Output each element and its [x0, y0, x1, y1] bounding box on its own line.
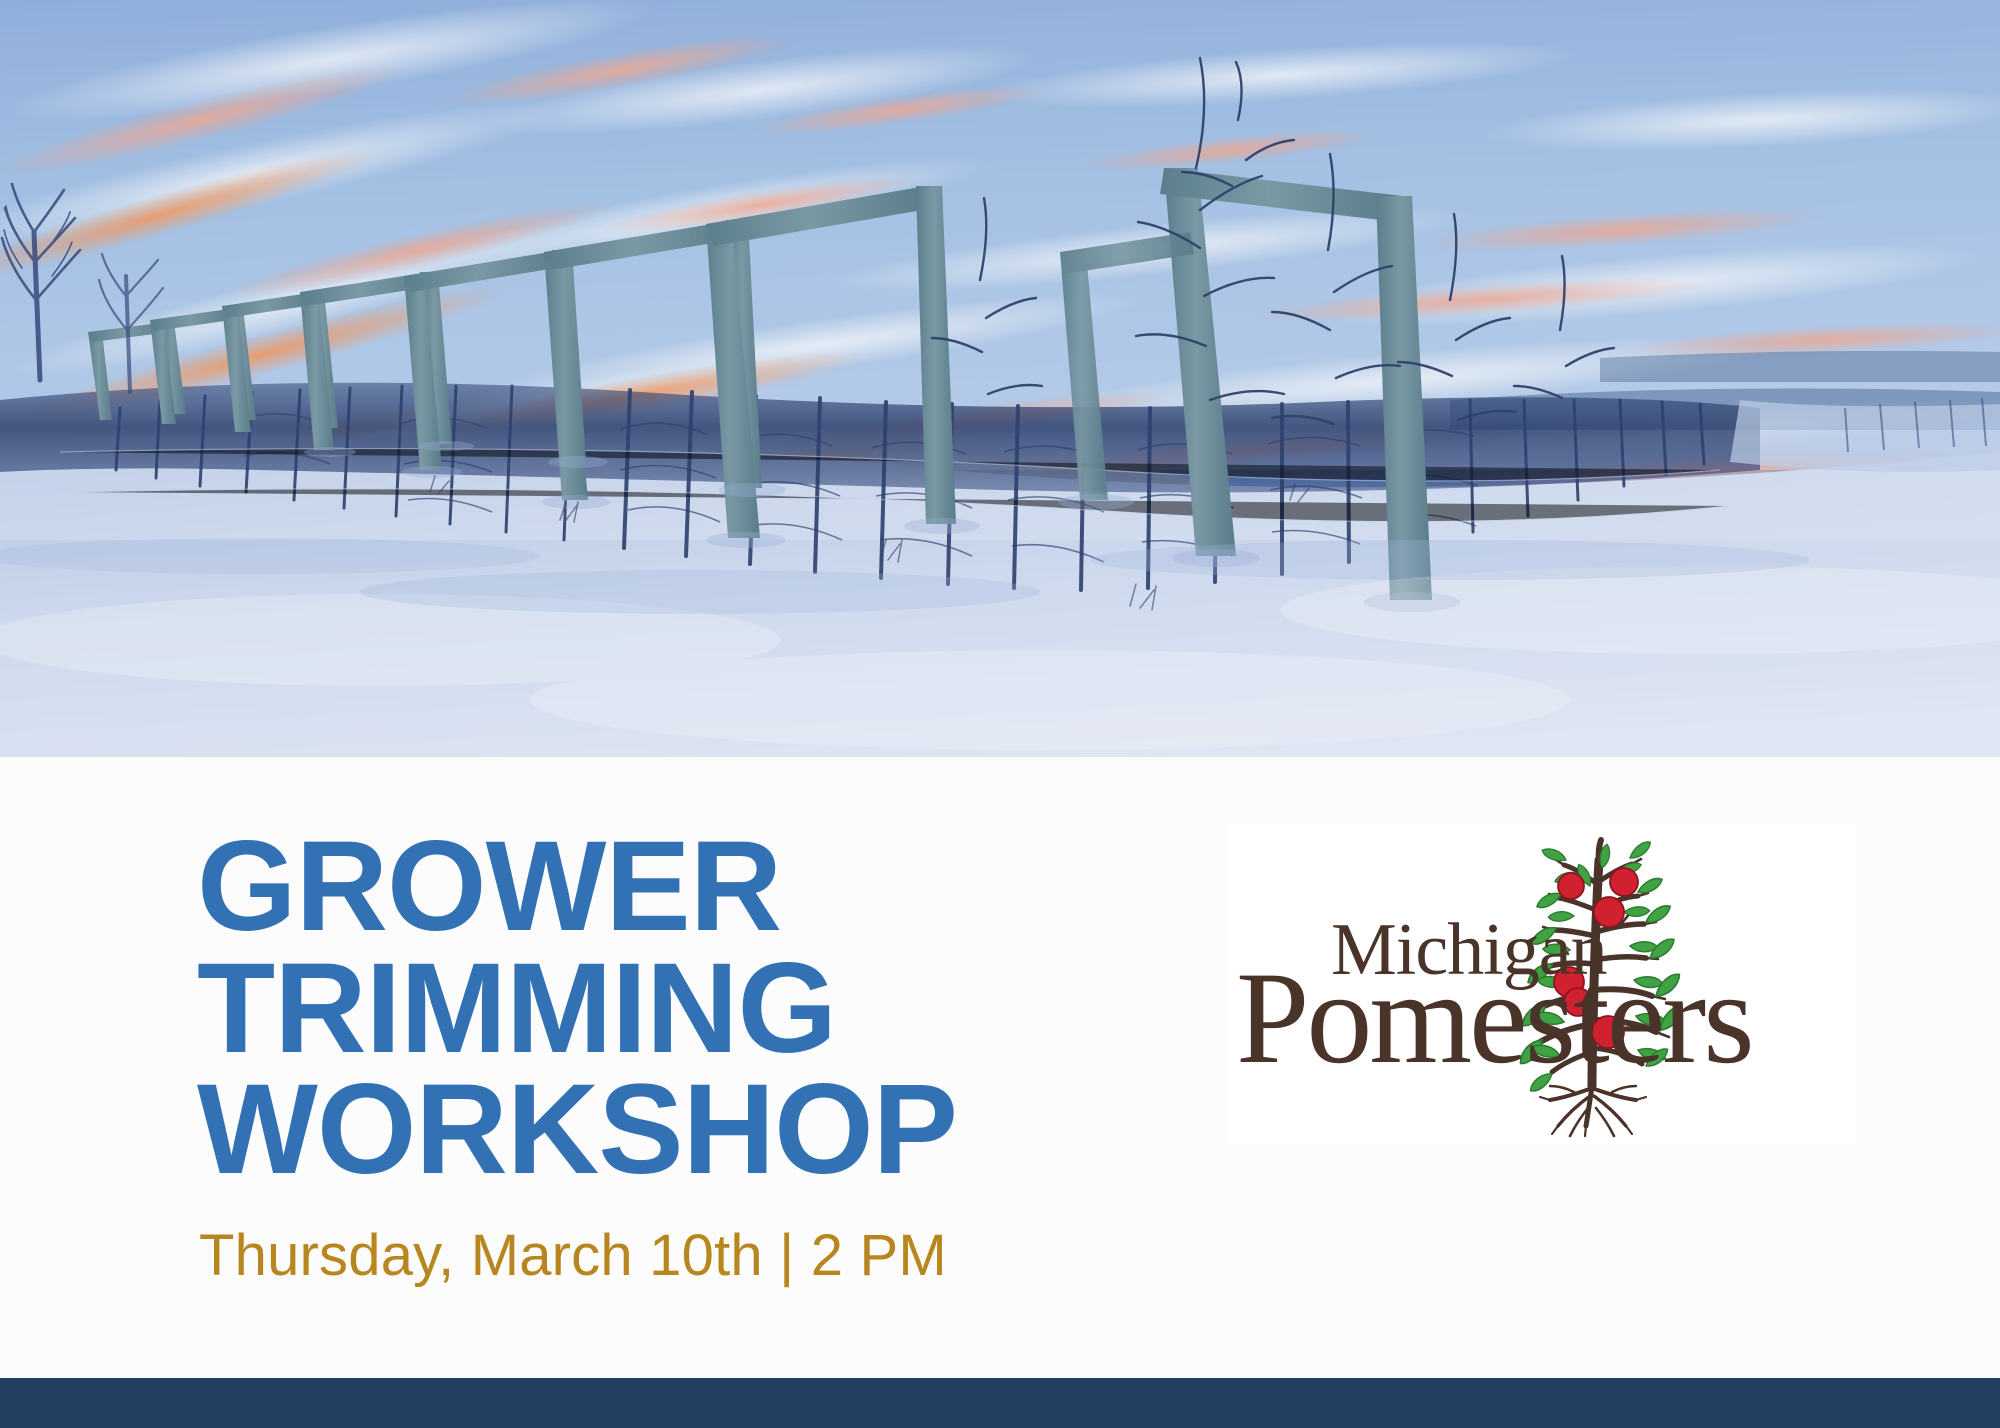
hero-photo-orchard-winter-sunset: [0, 0, 2000, 757]
headline-line-2: TRIMMING: [197, 948, 1157, 1070]
headline-line-1: GROWER: [197, 826, 1157, 948]
michigan-pomesters-logo: Michigan Pomesters: [1226, 824, 1856, 1144]
page-title: GROWER TRIMMING WORKSHOP: [197, 826, 1157, 1191]
poster-canvas: GROWER TRIMMING WORKSHOP Thursday, March…: [0, 0, 2000, 1428]
logo-line-pomesters: Pomesters: [1236, 944, 1752, 1091]
event-date-time: Thursday, March 10th | 2 PM: [199, 1222, 947, 1289]
headline-line-3: WORKSHOP: [197, 1069, 1157, 1191]
footer-bar: [0, 1378, 2000, 1428]
